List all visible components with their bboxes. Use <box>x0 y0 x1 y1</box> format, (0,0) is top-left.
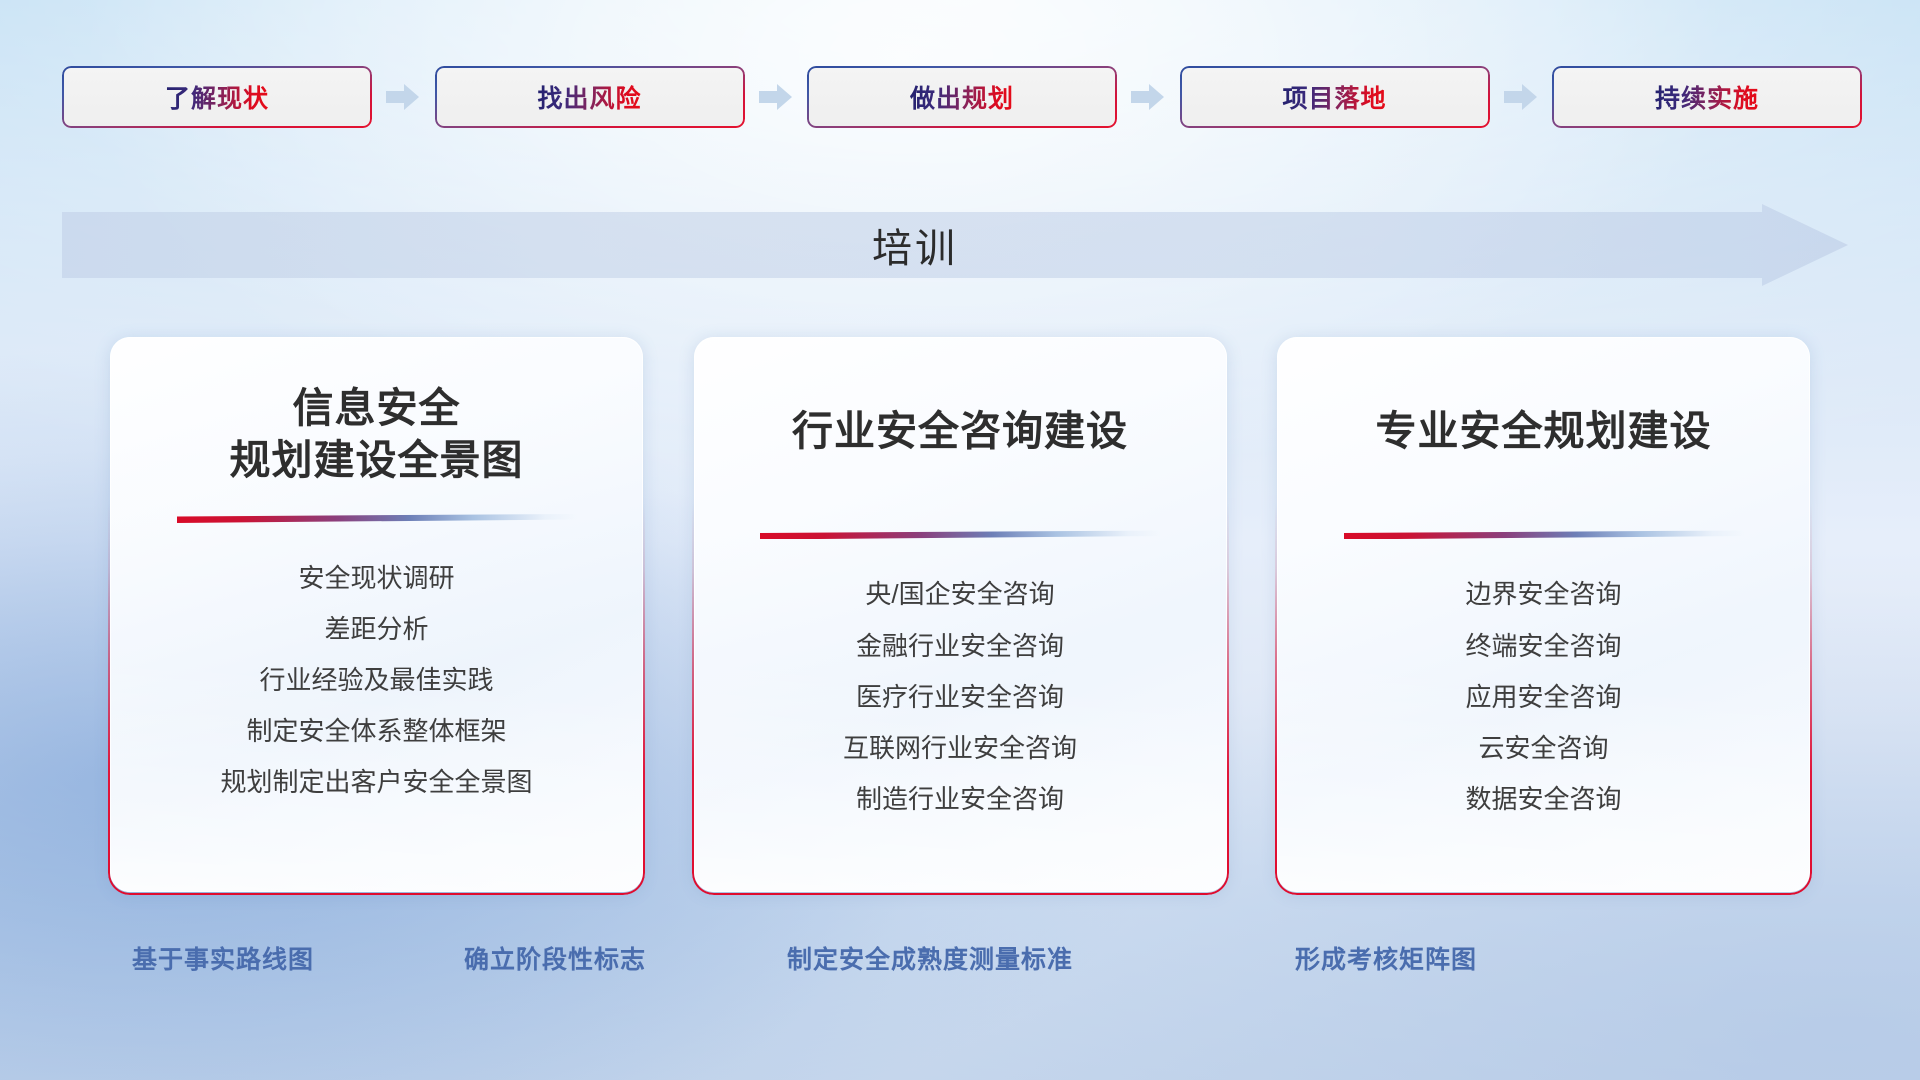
caption-assessment-matrix: 形成考核矩阵图 <box>1295 940 1477 976</box>
card-info-security-blueprint[interactable]: 信息安全 规划建设全景图 安全现状调研 差距分析 行业经验及最佳实践 制定安全体… <box>110 337 643 892</box>
process-step-1-label: 了解现状 <box>165 79 269 115</box>
card-title: 行业安全咨询建设 <box>728 405 1193 457</box>
process-step-row: 了解现状 找出风险 做出规划 项目落地 持续实施 <box>62 66 1862 128</box>
card-divider <box>177 514 577 523</box>
card-divider <box>1344 530 1744 539</box>
arrow-right-icon <box>1131 82 1165 112</box>
process-step-4[interactable]: 项目落地 <box>1180 66 1490 128</box>
process-step-3-label: 做出规划 <box>910 79 1014 115</box>
card-title-line-2: 规划建设全景图 <box>144 434 609 486</box>
list-item: 医疗行业安全咨询 <box>856 676 1064 718</box>
arrow-right-icon <box>1504 82 1538 112</box>
list-item: 应用安全咨询 <box>1465 676 1621 718</box>
process-step-5[interactable]: 持续实施 <box>1552 66 1862 128</box>
caption-row: 基于事实路线图 确立阶段性标志 制定安全成熟度测量标准 形成考核矩阵图 <box>0 940 1920 980</box>
card-body: 信息安全 规划建设全景图 安全现状调研 差距分析 行业经验及最佳实践 制定安全体… <box>110 337 643 892</box>
process-step-2[interactable]: 找出风险 <box>435 66 745 128</box>
card-item-list: 安全现状调研 差距分析 行业经验及最佳实践 制定安全体系整体框架 规划制定出客户… <box>144 557 609 804</box>
arrow-right-icon <box>386 82 420 112</box>
list-item: 边界安全咨询 <box>1465 573 1621 615</box>
arrow-right-icon <box>759 82 793 112</box>
card-title: 专业安全规划建设 <box>1311 405 1776 457</box>
slide-canvas: 了解现状 找出风险 做出规划 项目落地 持续实施 <box>0 0 1920 1080</box>
card-divider <box>760 530 1160 539</box>
training-banner-label: 培训 <box>62 204 1768 286</box>
card-body: 专业安全规划建设 边界安全咨询 终端安全咨询 应用安全咨询 云安全咨询 数据安全… <box>1277 337 1810 892</box>
list-item: 规划制定出客户安全全景图 <box>220 761 532 803</box>
list-item: 云安全咨询 <box>1478 727 1608 769</box>
card-item-list: 边界安全咨询 终端安全咨询 应用安全咨询 云安全咨询 数据安全咨询 <box>1311 573 1776 820</box>
card-row: 信息安全 规划建设全景图 安全现状调研 差距分析 行业经验及最佳实践 制定安全体… <box>110 337 1810 892</box>
process-step-3[interactable]: 做出规划 <box>807 66 1117 128</box>
list-item: 安全现状调研 <box>298 557 454 599</box>
card-title-line-1: 专业安全规划建设 <box>1311 405 1776 457</box>
list-item: 制造行业安全咨询 <box>856 778 1064 820</box>
card-item-list: 央/国企安全咨询 金融行业安全咨询 医疗行业安全咨询 互联网行业安全咨询 制造行… <box>728 573 1193 820</box>
card-industry-security-consulting[interactable]: 行业安全咨询建设 央/国企安全咨询 金融行业安全咨询 医疗行业安全咨询 互联网行… <box>694 337 1227 892</box>
card-title: 信息安全 规划建设全景图 <box>144 382 609 487</box>
list-item: 金融行业安全咨询 <box>856 625 1064 667</box>
card-body: 行业安全咨询建设 央/国企安全咨询 金融行业安全咨询 医疗行业安全咨询 互联网行… <box>694 337 1227 892</box>
list-item: 数据安全咨询 <box>1465 778 1621 820</box>
process-step-4-label: 项目落地 <box>1282 79 1386 115</box>
process-step-1[interactable]: 了解现状 <box>62 66 372 128</box>
card-title-line-1: 信息安全 <box>144 382 609 434</box>
caption-fact-roadmap: 基于事实路线图 <box>132 940 314 976</box>
list-item: 互联网行业安全咨询 <box>843 727 1077 769</box>
list-item: 行业经验及最佳实践 <box>259 659 493 701</box>
card-title-line-1: 行业安全咨询建设 <box>728 405 1193 457</box>
process-step-5-label: 持续实施 <box>1655 79 1759 115</box>
list-item: 差距分析 <box>324 608 428 650</box>
list-item: 终端安全咨询 <box>1465 625 1621 667</box>
list-item: 制定安全体系整体框架 <box>246 710 506 752</box>
list-item: 央/国企安全咨询 <box>865 573 1054 615</box>
training-banner: 培训 <box>62 204 1848 286</box>
process-step-2-label: 找出风险 <box>537 79 641 115</box>
card-professional-security-planning[interactable]: 专业安全规划建设 边界安全咨询 终端安全咨询 应用安全咨询 云安全咨询 数据安全… <box>1277 337 1810 892</box>
caption-maturity-standard: 制定安全成熟度测量标准 <box>787 940 1073 976</box>
caption-phase-milestones: 确立阶段性标志 <box>464 940 646 976</box>
